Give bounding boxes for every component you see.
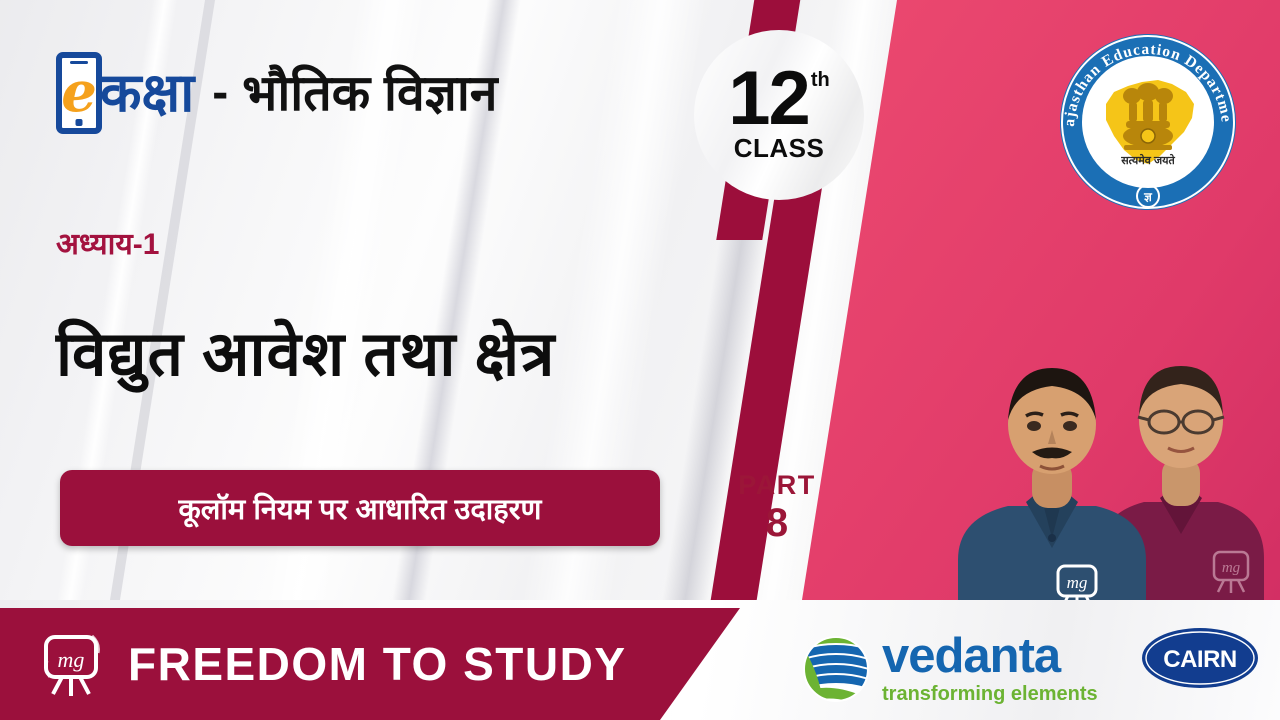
class-badge: 12 th CLASS — [694, 30, 864, 200]
vedanta-tagline: transforming elements — [882, 683, 1098, 706]
freedom-to-study-bar: mg FREEDOM TO STUDY — [0, 608, 790, 720]
cairn-oval-logo: CAIRN — [1140, 626, 1260, 690]
mobile-phone-icon: e — [56, 52, 102, 134]
instructor-photos: mg mg — [930, 215, 1280, 632]
freedom-to-study-tagline: FREEDOM TO STUDY — [128, 637, 627, 691]
svg-text:mg: mg — [1222, 560, 1241, 576]
mg-logo-text: mg — [58, 647, 85, 672]
chapter-label: अध्याय-1 — [56, 222, 159, 263]
instructor-front: mg — [954, 342, 1150, 632]
vedanta-logo: vedanta transforming elements — [800, 632, 1098, 706]
emblem-motto: सत्यमेव जयते — [1120, 153, 1175, 167]
class-number-row: 12 th — [728, 66, 829, 131]
mg-easel-logo: mg — [40, 631, 106, 697]
vedanta-wordmark: vedanta transforming elements — [882, 632, 1098, 706]
brand-subject-text: भौतिक विज्ञान — [242, 68, 497, 118]
class-word: CLASS — [734, 133, 825, 164]
rajasthan-education-department-emblem: Rajasthan Education Department सत्यमेव ज… — [1044, 18, 1252, 226]
class-ordinal-suffix: th — [811, 72, 830, 89]
brand-dash: - — [212, 69, 228, 117]
ekaksha-brand-logo: e कक्षा - भौतिक विज्ञान — [56, 52, 498, 134]
svg-text:mg: mg — [1067, 573, 1088, 592]
brand-kaksha-text: कक्षा — [100, 66, 194, 120]
brand-letter-e: e — [61, 64, 97, 120]
part-number: 8 — [722, 503, 832, 543]
vedanta-globe-icon — [800, 633, 872, 705]
subtitle-badge: कूलॉम नियम पर आधारित उदाहरण — [60, 470, 660, 546]
video-thumbnail: e कक्षा - भौतिक विज्ञान 12 th CLASS अध्य… — [0, 0, 1280, 720]
class-number: 12 — [728, 66, 809, 131]
page-title: विद्युत आवेश तथा क्षेत्र — [56, 310, 555, 394]
part-label: PART — [722, 470, 832, 501]
subtitle-text: कूलॉम नियम पर आधारित उदाहरण — [178, 489, 541, 528]
cairn-name: CAIRN — [1163, 646, 1237, 673]
ashoka-lion-capital-icon — [1123, 83, 1173, 150]
part-indicator: PART 8 — [722, 470, 832, 543]
vedanta-name: vedanta — [882, 632, 1098, 681]
emblem-sub-mark: ज्ञ — [1143, 190, 1153, 204]
